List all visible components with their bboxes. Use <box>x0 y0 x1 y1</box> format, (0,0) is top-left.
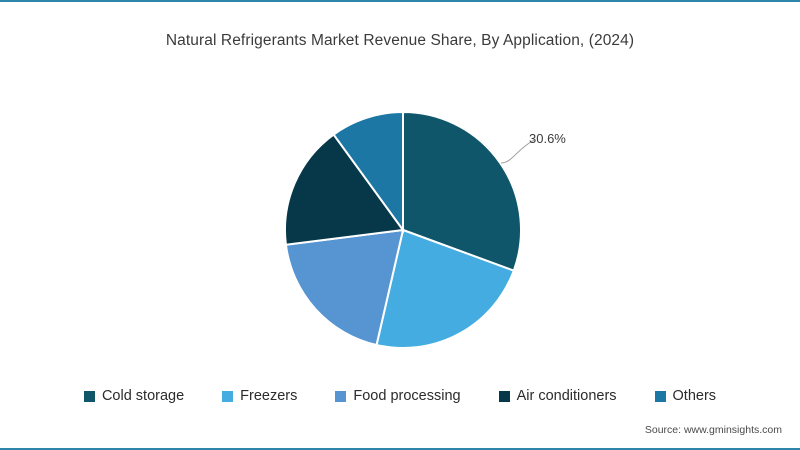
legend: Cold storageFreezersFood processingAir c… <box>0 388 800 404</box>
legend-swatch-icon <box>222 391 233 402</box>
legend-item-label: Food processing <box>353 388 460 404</box>
legend-swatch-icon <box>655 391 666 402</box>
slice-value-label: 30.6% <box>529 131 566 146</box>
chart-page: Natural Refrigerants Market Revenue Shar… <box>0 0 800 450</box>
pie-slice-group <box>285 112 521 348</box>
legend-item[interactable]: Food processing <box>335 388 460 404</box>
legend-item[interactable]: Air conditioners <box>499 388 617 404</box>
legend-swatch-icon <box>335 391 346 402</box>
legend-item-label: Others <box>673 388 717 404</box>
pie-svg <box>283 110 523 350</box>
legend-item-label: Freezers <box>240 388 297 404</box>
legend-item[interactable]: Freezers <box>222 388 297 404</box>
page-title: Natural Refrigerants Market Revenue Shar… <box>0 32 800 50</box>
pie-chart <box>283 110 523 350</box>
legend-item[interactable]: Others <box>655 388 717 404</box>
legend-item-label: Air conditioners <box>517 388 617 404</box>
top-rule <box>0 0 800 2</box>
legend-item[interactable]: Cold storage <box>84 388 184 404</box>
legend-swatch-icon <box>84 391 95 402</box>
legend-item-label: Cold storage <box>102 388 184 404</box>
legend-swatch-icon <box>499 391 510 402</box>
source-note: Source: www.gminsights.com <box>645 424 782 436</box>
